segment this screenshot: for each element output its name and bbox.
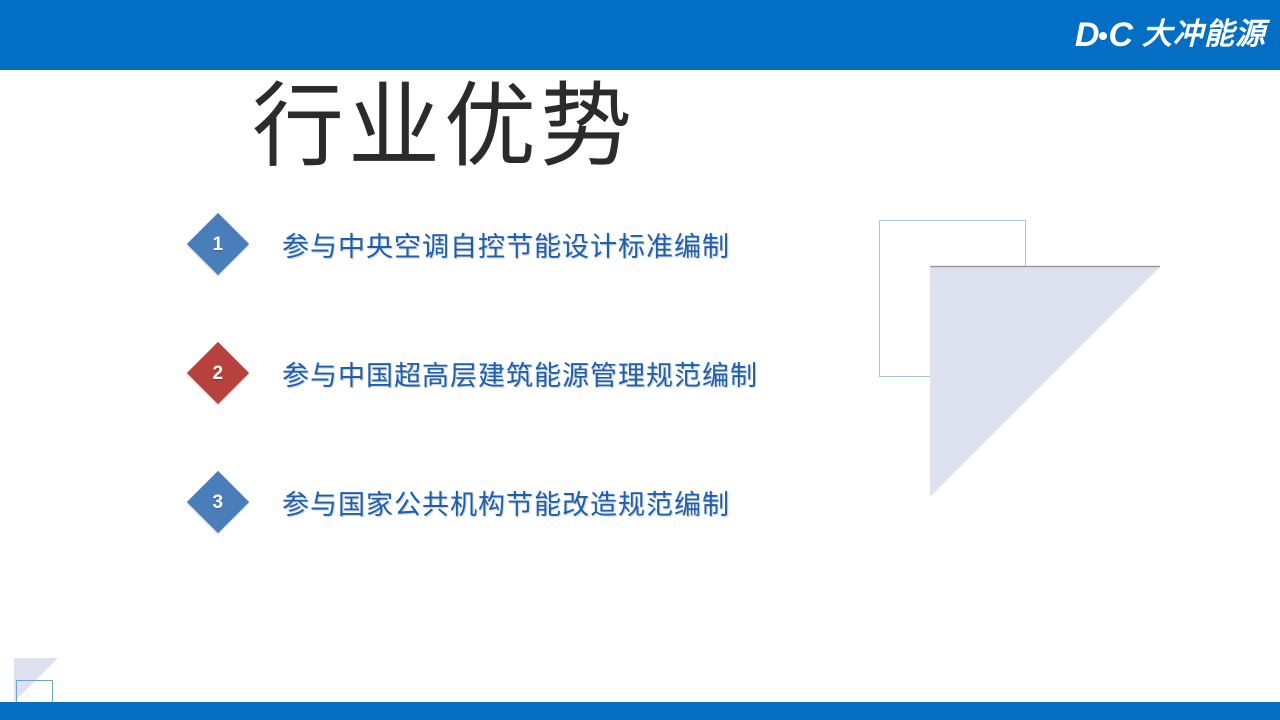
list-item: 3 参与国家公共机构节能改造规范编制: [196, 470, 896, 534]
list-item: 1 参与中央空调自控节能设计标准编制: [196, 212, 896, 276]
bullet-list: 1 参与中央空调自控节能设计标准编制 2 参与中国超高层建筑能源管理规范编制 3…: [196, 212, 896, 599]
diamond-badge-icon: 2: [187, 342, 249, 404]
diamond-badge-icon: 1: [187, 213, 249, 275]
diamond-badge-icon: 3: [187, 471, 249, 533]
badge-number: 1: [213, 234, 224, 253]
logo-letter-d: D: [1075, 18, 1099, 52]
company-logo: D C 大冲能源: [1075, 12, 1266, 58]
footer-bar: [0, 702, 1280, 720]
list-item-label: 参与中国超高层建筑能源管理规范编制: [282, 354, 758, 393]
logo-monogram: D C: [1075, 18, 1132, 52]
logo-letter-c: C: [1108, 18, 1132, 52]
page-title: 行业优势: [252, 78, 636, 177]
badge-number: 2: [213, 363, 224, 382]
slide-canvas: D C 大冲能源 行业优势 1 参与中央空调自控节能设计标准编制 2 参与中国超…: [0, 0, 1280, 720]
header-bar: D C 大冲能源: [0, 0, 1280, 70]
logo-dot-icon: [1099, 32, 1107, 40]
list-item: 2 参与中国超高层建筑能源管理规范编制: [196, 341, 896, 405]
logo-company-name: 大冲能源: [1142, 20, 1266, 50]
list-item-label: 参与国家公共机构节能改造规范编制: [282, 483, 730, 522]
decoration-right: [860, 200, 1190, 520]
decorative-triangle-icon: [860, 200, 1190, 520]
badge-number: 3: [213, 492, 224, 511]
list-item-label: 参与中央空调自控节能设计标准编制: [282, 225, 730, 264]
